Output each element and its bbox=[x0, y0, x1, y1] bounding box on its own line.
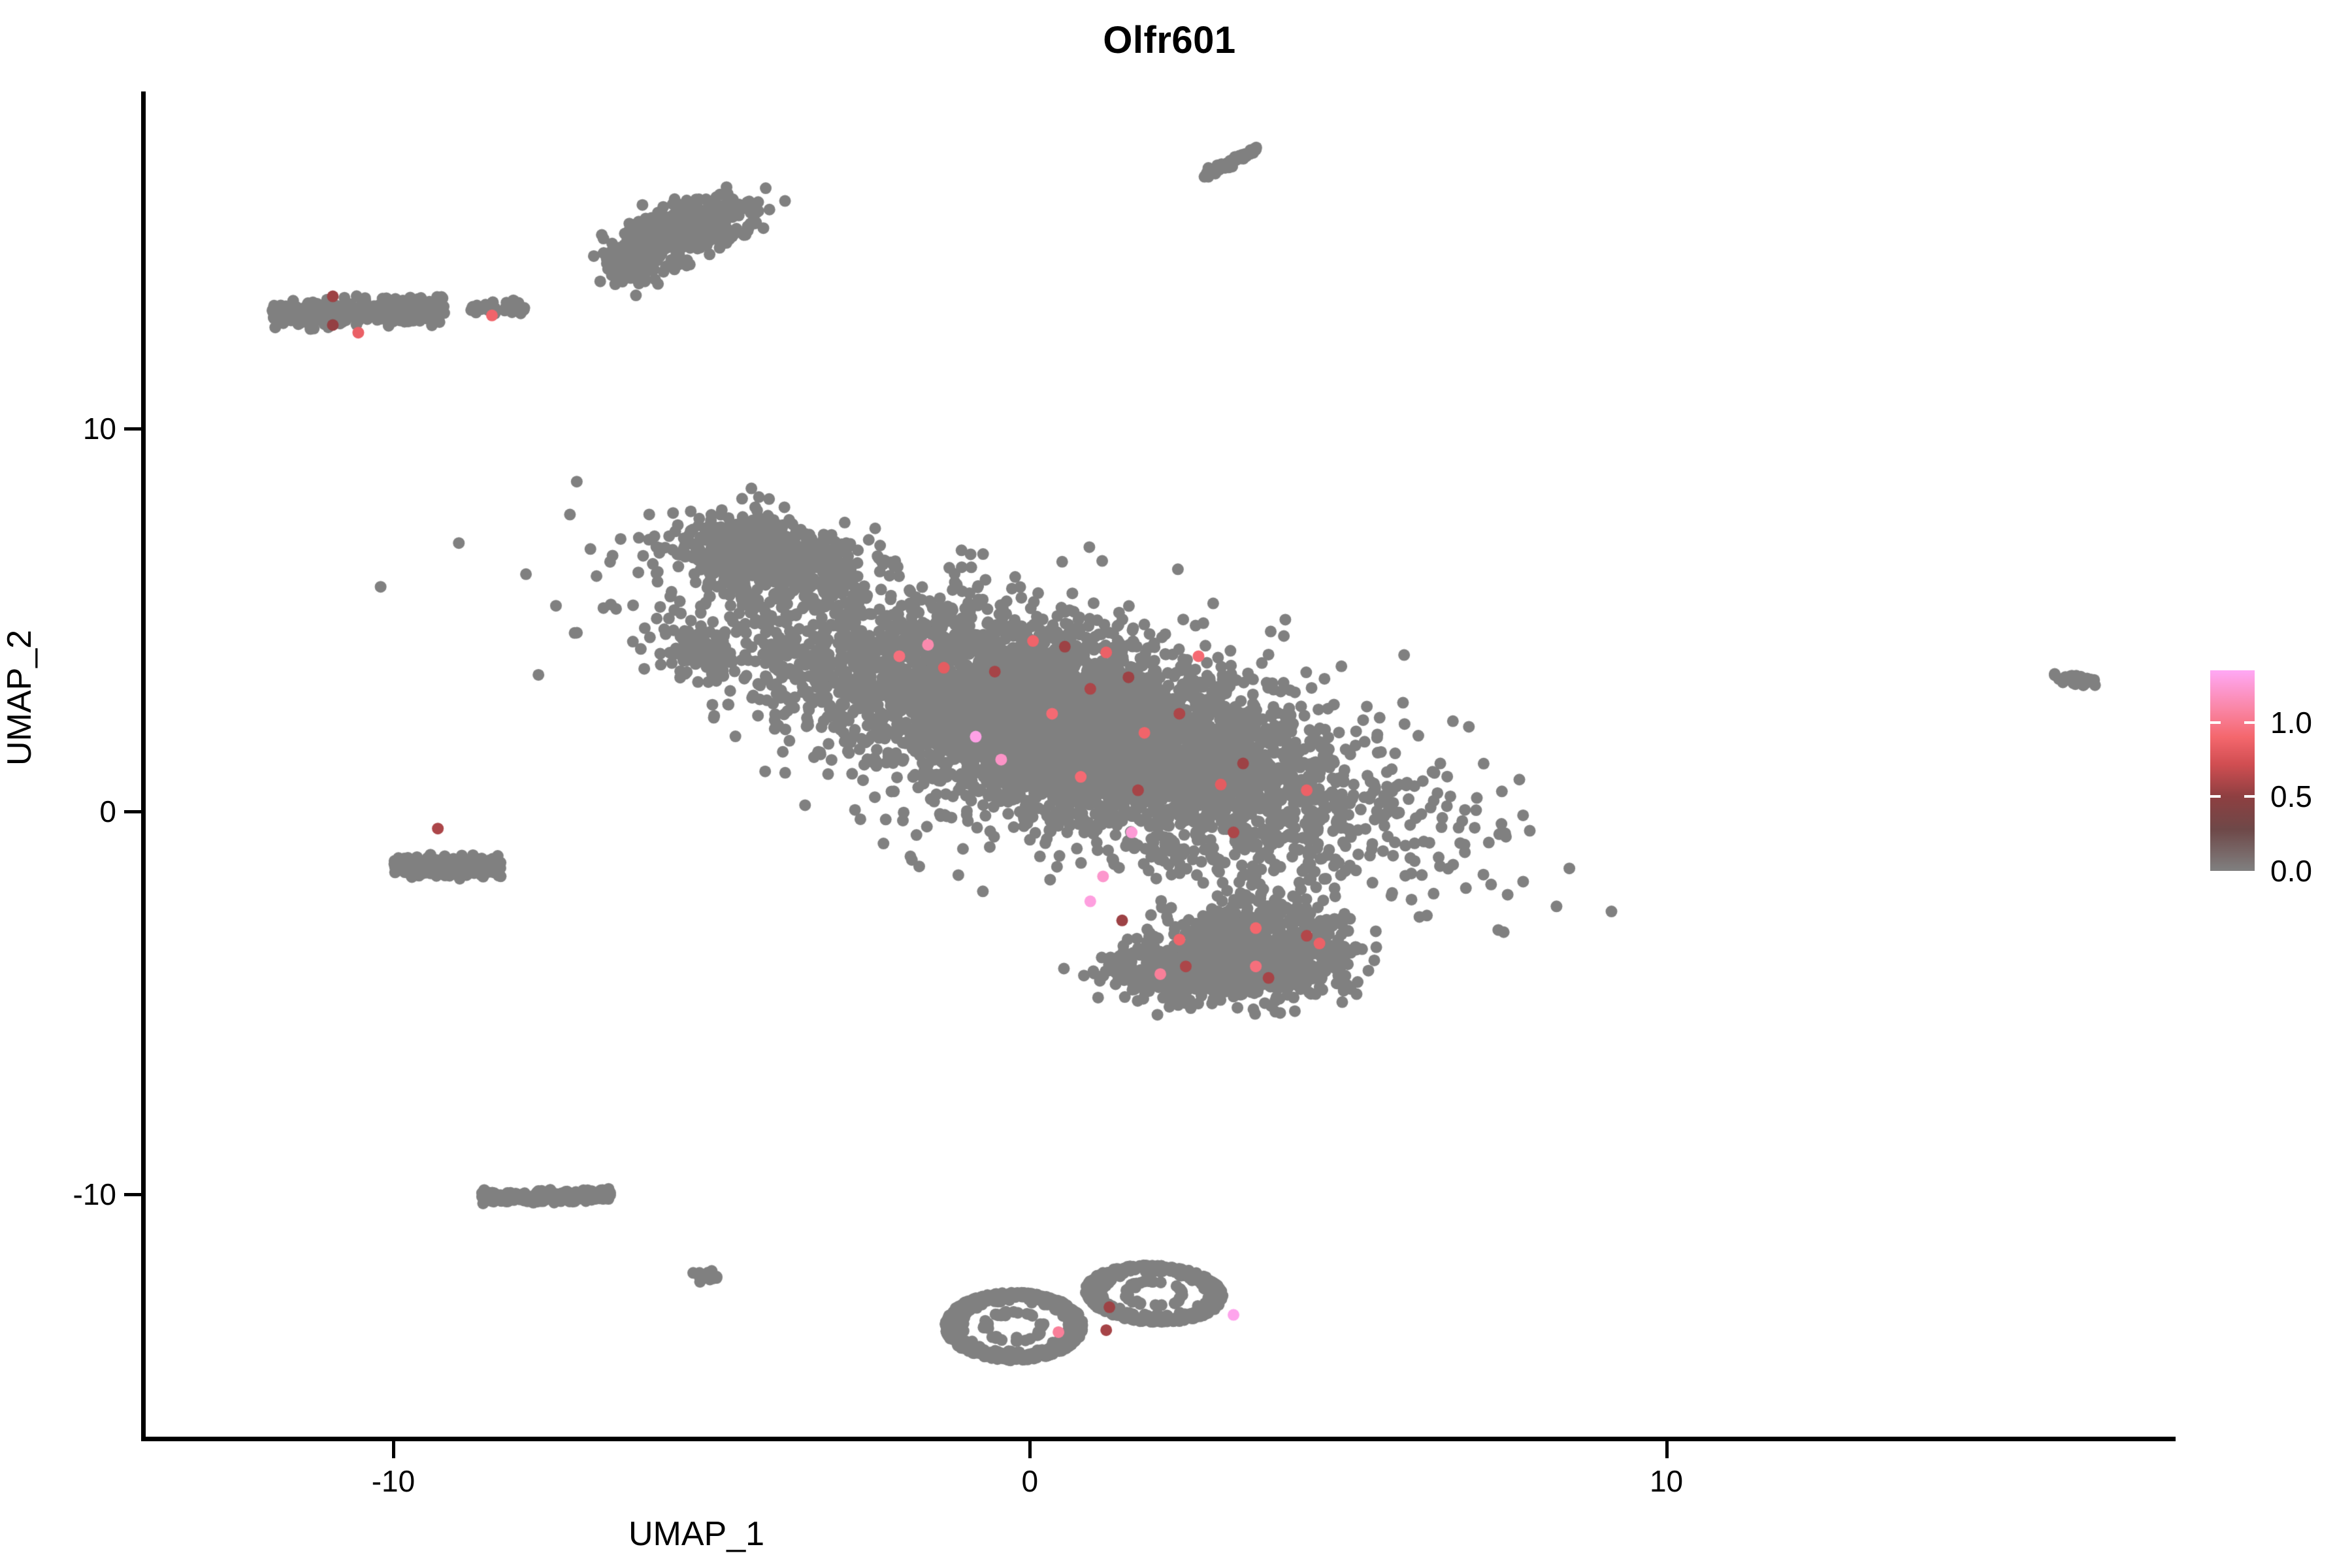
x-tick-mark bbox=[1665, 1441, 1669, 1458]
x-tick-mark bbox=[1028, 1441, 1032, 1458]
legend-colorbar bbox=[2210, 670, 2255, 871]
y-tick-mark bbox=[124, 427, 141, 431]
y-tick-label: 0 bbox=[99, 794, 116, 829]
y-axis-title: UMAP_2 bbox=[0, 630, 39, 766]
x-tick-label: 10 bbox=[1650, 1463, 1683, 1499]
legend-tick-mark bbox=[2244, 721, 2255, 724]
y-tick-mark bbox=[124, 1193, 141, 1196]
legend-tick-label: 0.0 bbox=[2270, 853, 2312, 889]
legend-tick-label: 0.5 bbox=[2270, 779, 2312, 814]
color-legend: 0.00.51.0 bbox=[2210, 670, 2334, 874]
x-axis-line bbox=[141, 1437, 2176, 1441]
x-tick-mark bbox=[392, 1441, 395, 1458]
legend-tick-label: 1.0 bbox=[2270, 705, 2312, 740]
umap-feature-plot: Olfr601 -10010 -10010 UMAP_1 UMAP_2 0.00… bbox=[0, 0, 2352, 1568]
legend-tick-mark bbox=[2244, 795, 2255, 798]
x-tick-label: -10 bbox=[372, 1463, 415, 1499]
x-tick-label: 0 bbox=[1021, 1463, 1038, 1499]
page-title: Olfr601 bbox=[0, 18, 2352, 62]
y-tick-label: 10 bbox=[83, 411, 116, 446]
y-tick-mark bbox=[124, 810, 141, 813]
scatter-plot-canvas bbox=[145, 91, 2176, 1439]
y-axis-line bbox=[141, 91, 146, 1441]
legend-tick-mark bbox=[2210, 721, 2221, 724]
x-axis-title: UMAP_1 bbox=[145, 1514, 2176, 1554]
legend-tick-mark bbox=[2210, 795, 2221, 798]
y-tick-label: -10 bbox=[73, 1177, 116, 1212]
